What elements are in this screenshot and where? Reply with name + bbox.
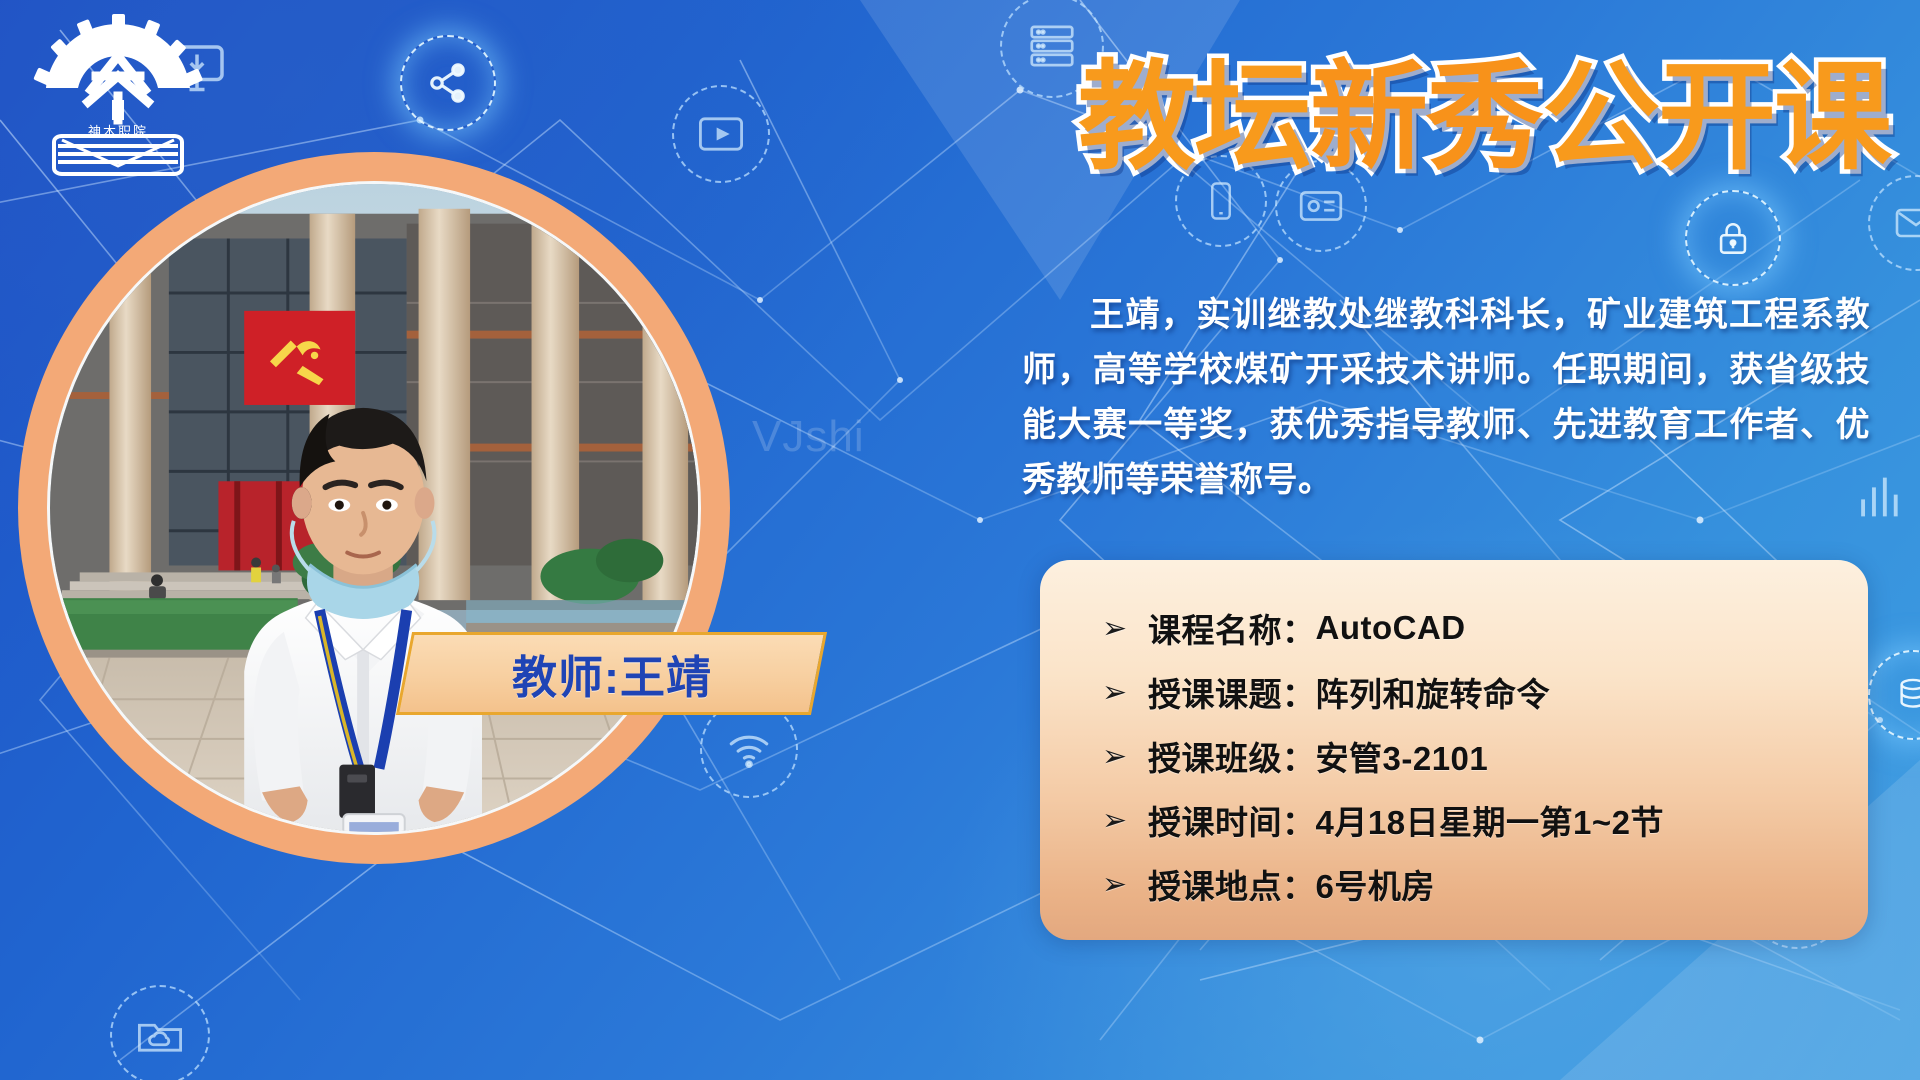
info-value-class: 安管3-2101 [1316, 732, 1489, 780]
info-value-location: 6号机房 [1316, 860, 1435, 908]
campus-photo [50, 184, 698, 832]
poster-canvas: 神木职院 [0, 0, 1920, 1080]
info-label-time: 授课时间： [1148, 796, 1316, 844]
teacher-name-banner: 教师:王靖 [396, 632, 827, 715]
info-label-class: 授课班级： [1148, 732, 1316, 780]
info-label-course-name: 课程名称： [1148, 604, 1316, 652]
database-icon [1868, 650, 1920, 740]
lock-icon [1685, 190, 1781, 286]
envelope-icon [1868, 175, 1920, 271]
share-nodes-icon [400, 35, 496, 131]
page-title: 教坛新秀公开课 [880, 48, 1890, 188]
info-row-time: ➢ 授课时间： 4月18日星期一第1~2节 [1040, 788, 1868, 852]
arrow-bullet-icon: ➢ [1102, 675, 1148, 710]
page-title-part1: 教坛 [1078, 59, 1310, 177]
info-row-course-name: ➢ 课程名称： AutoCAD [1040, 596, 1868, 660]
watermark: VJshi [752, 412, 865, 462]
arrow-bullet-icon: ➢ [1102, 803, 1148, 838]
play-video-icon [672, 85, 770, 183]
info-value-time: 4月18日星期一第1~2节 [1316, 796, 1665, 844]
page-title-part2: 新秀 [1310, 59, 1542, 177]
info-value-course-name: AutoCAD [1316, 609, 1466, 647]
info-row-topic: ➢ 授课课题： 阵列和旋转命令 [1040, 660, 1868, 724]
teacher-name-text: 教师:王靖 [512, 641, 712, 706]
school-logo: 神木职院 [18, 14, 218, 179]
arrow-bullet-icon: ➢ [1102, 739, 1148, 774]
teacher-portrait-frame [18, 152, 730, 864]
arrow-bullet-icon: ➢ [1102, 867, 1148, 902]
teacher-bio-text: 王靖，实训继教处继教科科长，矿业建筑工程系教师，高等学校煤矿开采技术讲师。任职期… [1022, 288, 1870, 508]
cloud-folder-icon [110, 985, 210, 1080]
info-label-location: 授课地点： [1148, 860, 1316, 908]
info-row-location: ➢ 授课地点： 6号机房 [1040, 852, 1868, 916]
course-info-card: ➢ 课程名称： AutoCAD ➢ 授课课题： 阵列和旋转命令 ➢ 授课班级： … [1040, 560, 1868, 940]
info-row-class: ➢ 授课班级： 安管3-2101 [1040, 724, 1868, 788]
teacher-portrait-photo [47, 181, 701, 835]
info-value-topic: 阵列和旋转命令 [1316, 668, 1551, 716]
arrow-bullet-icon: ➢ [1102, 611, 1148, 646]
info-label-topic: 授课课题： [1148, 668, 1316, 716]
page-title-part3: 公开课 [1542, 59, 1890, 177]
